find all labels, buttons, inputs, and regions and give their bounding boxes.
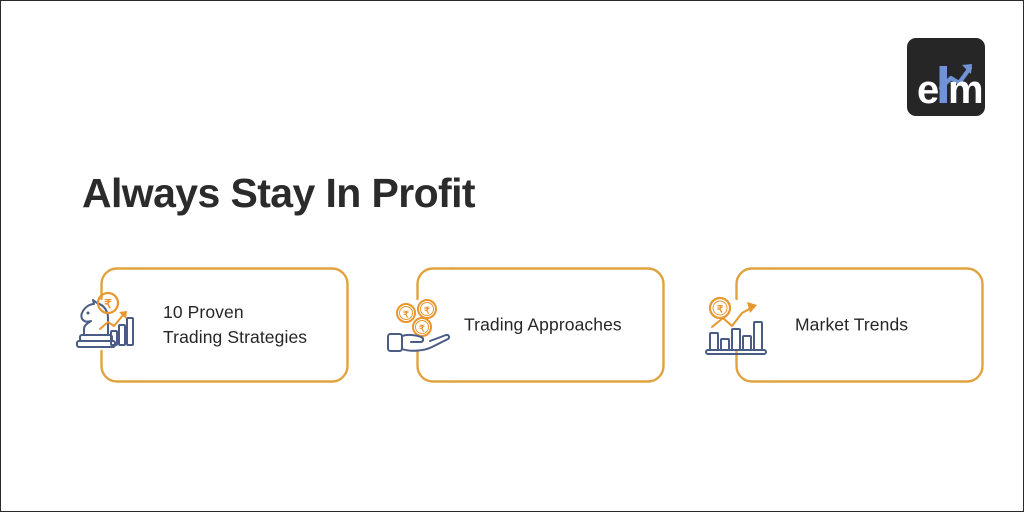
elm-logo[interactable]: e m — [907, 38, 985, 116]
page-title: Always Stay In Profit — [82, 169, 475, 218]
logo-letter-m: m — [948, 68, 984, 112]
card-label: 10 Proven Trading Strategies — [163, 300, 307, 350]
card-trading-approaches[interactable]: ₹ ₹ ₹ Trading Approaches — [416, 267, 665, 383]
card-label: Trading Approaches — [464, 313, 622, 338]
svg-text:₹: ₹ — [424, 306, 430, 316]
slide-canvas: e m Always Stay In Profit — [0, 0, 1024, 512]
logo-letter-l — [940, 66, 948, 103]
card-label: Market Trends — [795, 313, 908, 338]
svg-text:₹: ₹ — [419, 324, 425, 334]
hand-holding-rupee-coins-icon: ₹ ₹ ₹ — [380, 289, 452, 361]
svg-text:₹: ₹ — [717, 305, 724, 316]
chess-knight-rupee-bar-chart-icon: ₹ — [64, 289, 136, 361]
card-market-trends[interactable]: ₹ Market Trends — [735, 267, 984, 383]
bar-chart-rupee-trend-arrow-icon: ₹ — [699, 289, 771, 361]
logo-letter-e: e — [917, 68, 939, 112]
svg-text:₹: ₹ — [104, 297, 112, 311]
card-trading-strategies[interactable]: ₹ 10 Proven Trading Strategies — [100, 267, 349, 383]
svg-text:₹: ₹ — [403, 310, 409, 320]
